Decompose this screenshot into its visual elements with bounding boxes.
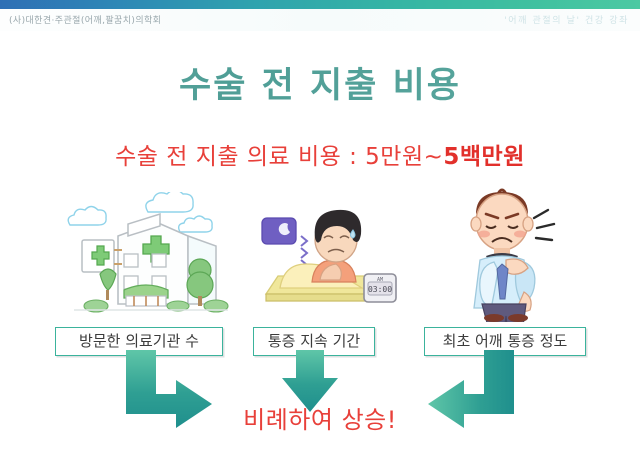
caption-box-initial-pain-level: 최초 어깨 통증 정도 xyxy=(424,327,586,356)
subtitle-prefix-text: 수술 전 지출 의료 비용 : 5만원~ xyxy=(115,144,443,170)
caption-box-hospital-visits: 방문한 의료기관 수 xyxy=(55,327,223,356)
header-band: (사)대한견·주관절(어깨,팔꿈치)의학회 '어깨 관절의 날' 건강 강좌 xyxy=(0,9,640,31)
header-organization-label: (사)대한견·주관절(어깨,팔꿈치)의학회 xyxy=(9,13,161,26)
clock-ampm-label: AM xyxy=(377,277,383,283)
subtitle-cost-range: 수술 전 지출 의료 비용 : 5만원~5백만원 xyxy=(0,137,640,171)
hospital-illustration xyxy=(48,192,243,322)
pain-burst-icon xyxy=(534,210,554,240)
alarm-clock-icon: AM 03:00 xyxy=(364,274,396,302)
page-title: 수술 전 지출 비용 xyxy=(0,57,640,108)
caption-box-pain-duration: 통증 지속 기간 xyxy=(253,327,375,356)
top-gradient-bar xyxy=(0,0,640,9)
clock-time-label: 03:00 xyxy=(368,285,392,294)
night-window-icon xyxy=(262,218,296,244)
conclusion-text: 비례하여 상승! xyxy=(0,400,640,435)
hospital-illustration-svg xyxy=(48,192,243,322)
subtitle-highlight-amount: 5백만원 xyxy=(443,144,524,170)
header-event-label: '어깨 관절의 날' 건강 강좌 xyxy=(504,13,629,26)
slide-canvas: (사)대한견·주관절(어깨,팔꿈치)의학회 '어깨 관절의 날' 건강 강좌 수… xyxy=(0,0,640,471)
shoulder-pain-man-illustration xyxy=(438,188,583,322)
sleepless-patient-svg: AM 03:00 xyxy=(252,196,402,318)
sleepless-patient-illustration: AM 03:00 xyxy=(252,196,402,318)
shoulder-pain-man-svg xyxy=(438,188,583,322)
tree-icon xyxy=(100,269,116,300)
